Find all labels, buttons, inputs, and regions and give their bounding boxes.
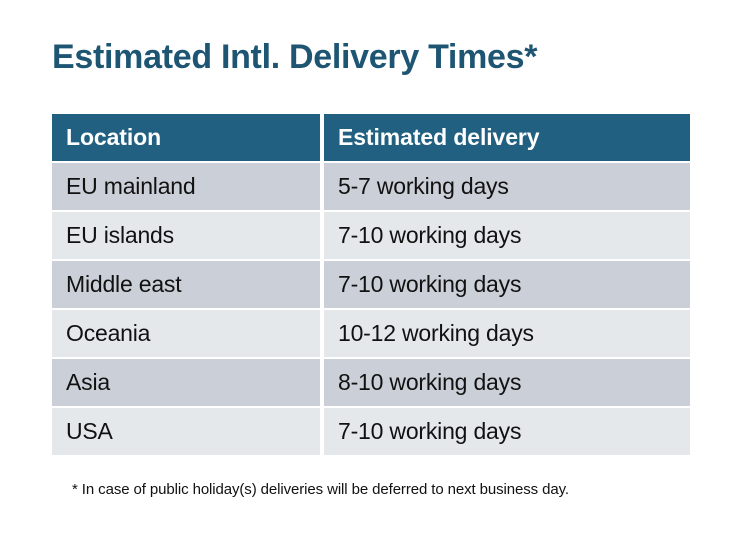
cell-delivery: 7-10 working days — [324, 261, 690, 308]
cell-delivery: 7-10 working days — [324, 212, 690, 259]
table-row: Oceania 10-12 working days — [52, 310, 690, 357]
cell-location: Oceania — [52, 310, 320, 357]
cell-delivery-text: 7-10 working days — [324, 222, 690, 249]
table-header: Location Estimated delivery — [52, 114, 690, 161]
table-body: EU mainland 5-7 working days EU islands … — [52, 161, 690, 455]
cell-delivery: 5-7 working days — [324, 163, 690, 210]
cell-location-text: Middle east — [52, 271, 320, 298]
table-row: USA 7-10 working days — [52, 408, 690, 455]
cell-location-text: Oceania — [52, 320, 320, 347]
cell-delivery-text: 5-7 working days — [324, 173, 690, 200]
table-row: Middle east 7-10 working days — [52, 261, 690, 308]
cell-delivery: 10-12 working days — [324, 310, 690, 357]
table-row: Asia 8-10 working days — [52, 359, 690, 406]
cell-delivery: 7-10 working days — [324, 408, 690, 455]
column-header-delivery-label: Estimated delivery — [324, 124, 690, 151]
cell-location: EU mainland — [52, 163, 320, 210]
cell-location-text: EU mainland — [52, 173, 320, 200]
table-row: EU mainland 5-7 working days — [52, 163, 690, 210]
estimated-delivery-times-table: Location Estimated delivery EU mainland — [52, 114, 690, 455]
delivery-times-card: Estimated Intl. Delivery Times* Location… — [0, 0, 745, 536]
page-title: Estimated Intl. Delivery Times* — [52, 36, 537, 78]
table-header-row: Location Estimated delivery — [52, 114, 690, 161]
column-header-delivery: Estimated delivery — [324, 114, 690, 161]
cell-location-text: EU islands — [52, 222, 320, 249]
column-header-location: Location — [52, 114, 320, 161]
cell-location: Asia — [52, 359, 320, 406]
cell-location: USA — [52, 408, 320, 455]
footnote: * In case of public holiday(s) deliverie… — [72, 481, 569, 498]
cell-delivery-text: 8-10 working days — [324, 369, 690, 396]
column-header-location-label: Location — [52, 124, 320, 151]
table-row: EU islands 7-10 working days — [52, 212, 690, 259]
cell-delivery-text: 7-10 working days — [324, 418, 690, 445]
cell-location: Middle east — [52, 261, 320, 308]
cell-location-text: USA — [52, 418, 320, 445]
cell-delivery-text: 7-10 working days — [324, 271, 690, 298]
cell-location-text: Asia — [52, 369, 320, 396]
cell-delivery-text: 10-12 working days — [324, 320, 690, 347]
cell-delivery: 8-10 working days — [324, 359, 690, 406]
cell-location: EU islands — [52, 212, 320, 259]
